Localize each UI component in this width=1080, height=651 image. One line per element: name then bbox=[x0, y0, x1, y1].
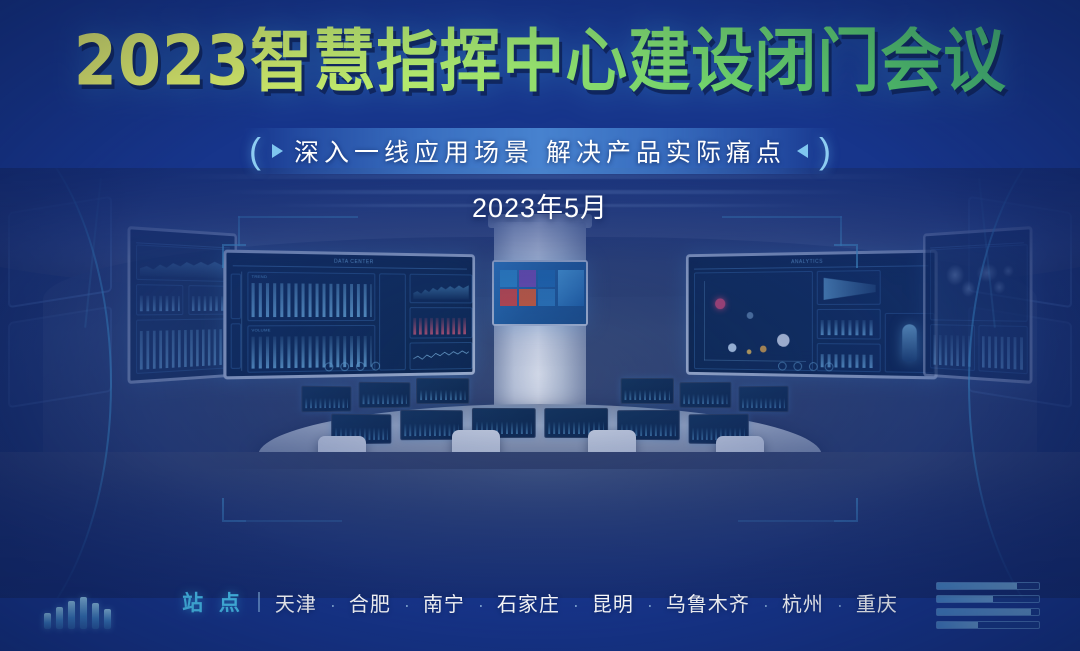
page-title: 2023智慧指挥中心建设闭门会议 bbox=[74, 26, 1007, 95]
human-figure-icon bbox=[902, 324, 917, 361]
operator-monitor bbox=[301, 386, 351, 413]
subtitle-block: ( 深入一线应用场景 解决产品实际痛点 ) bbox=[0, 128, 1080, 174]
equalizer-bar bbox=[68, 601, 75, 629]
operator-monitor bbox=[739, 386, 789, 413]
equalizer-bar bbox=[56, 607, 63, 629]
right-bracket-icon: ) bbox=[819, 133, 831, 169]
funnel-shape bbox=[824, 277, 876, 300]
progress-fill bbox=[937, 583, 1017, 589]
subtitle-text: 深入一线应用场景 解决产品实际痛点 bbox=[294, 133, 786, 169]
city-separator: · bbox=[478, 595, 484, 615]
funnel-panel bbox=[817, 270, 881, 305]
progress-fill bbox=[937, 609, 1031, 615]
video-wall-screen-left: DATA CENTER TREND VOLUME bbox=[223, 250, 475, 380]
bar-chart bbox=[140, 296, 180, 312]
hud-bracket-icon bbox=[834, 498, 858, 522]
control-knob-icon bbox=[793, 362, 802, 371]
progress-row bbox=[936, 621, 1040, 629]
desktop-tile bbox=[500, 270, 517, 287]
screen-panel bbox=[410, 307, 473, 338]
hud-bracket-icon bbox=[834, 244, 858, 268]
progress-fill bbox=[937, 622, 978, 628]
control-knob-icon bbox=[825, 362, 834, 371]
chart-axis bbox=[704, 360, 806, 362]
city-item: 天津 bbox=[275, 594, 317, 616]
stations-divider bbox=[258, 592, 260, 612]
equalizer-bar bbox=[104, 609, 111, 629]
control-knob-icon bbox=[325, 362, 334, 371]
hud-line bbox=[246, 520, 342, 522]
operator-monitor bbox=[679, 382, 731, 408]
bar-chart bbox=[933, 335, 971, 367]
left-triangle-icon bbox=[797, 144, 808, 158]
scatter-point bbox=[715, 298, 725, 309]
screen-panel bbox=[136, 318, 233, 374]
city-separator: · bbox=[573, 595, 579, 615]
city-separator: · bbox=[837, 595, 843, 615]
title-block: 2023智慧指挥中心建设闭门会议 bbox=[0, 30, 1080, 92]
bar-chart-red bbox=[413, 318, 468, 335]
chart-axis bbox=[704, 281, 705, 360]
screen-header: DATA CENTER bbox=[233, 257, 467, 270]
screen-panel bbox=[817, 309, 881, 340]
screen-panel bbox=[410, 274, 473, 304]
city-separator: · bbox=[404, 595, 410, 615]
screen-panel bbox=[136, 244, 233, 282]
left-bracket-icon: ( bbox=[249, 133, 261, 169]
city-item: 重庆 bbox=[856, 594, 898, 616]
control-knob-icon bbox=[778, 362, 787, 371]
city-separator: · bbox=[647, 595, 653, 615]
screen-title: DATA CENTER bbox=[334, 259, 374, 266]
screen-header: ANALYTICS bbox=[694, 257, 928, 270]
poster-root: DATA CENTER TREND VOLUME bbox=[0, 0, 1080, 651]
control-room-scene: DATA CENTER TREND VOLUME bbox=[0, 168, 1080, 598]
subtitle-bar: ( 深入一线应用场景 解决产品实际痛点 ) bbox=[243, 128, 837, 174]
equalizer-decoration bbox=[44, 595, 111, 629]
hud-bracket-icon bbox=[222, 498, 246, 522]
hud-line bbox=[738, 520, 834, 522]
event-date: 2023年5月 bbox=[0, 186, 1080, 225]
progress-row bbox=[936, 582, 1040, 590]
control-knob-icon bbox=[809, 362, 818, 371]
city-separator: · bbox=[763, 595, 769, 615]
kpi-panel bbox=[231, 274, 241, 320]
equalizer-bar bbox=[92, 603, 99, 629]
scatter-point bbox=[728, 343, 736, 352]
progress-decoration bbox=[936, 582, 1040, 629]
bar-chart bbox=[252, 336, 372, 369]
equalizer-bar bbox=[44, 613, 51, 629]
scatter-panel bbox=[694, 271, 813, 371]
screen-panel bbox=[410, 342, 473, 370]
city-item: 乌鲁木齐 bbox=[666, 594, 750, 616]
desktop-tile bbox=[500, 289, 517, 306]
desktop-tile bbox=[558, 270, 584, 306]
hud-bracket-icon bbox=[222, 244, 246, 268]
city-list: 天津·合肥·南宁·石家庄·昆明·乌鲁木齐·杭州·重庆 bbox=[275, 588, 898, 617]
stations-label: 站 点 bbox=[182, 587, 245, 617]
desktop-tile bbox=[519, 289, 536, 306]
scatter-point bbox=[747, 312, 754, 319]
chart-axis bbox=[241, 272, 242, 371]
panel-caption: TREND bbox=[252, 274, 268, 279]
bar-chart bbox=[252, 283, 372, 317]
scatter-point bbox=[777, 334, 789, 347]
right-triangle-icon bbox=[272, 144, 283, 158]
screen-panel: TREND bbox=[247, 272, 375, 322]
area-chart bbox=[413, 283, 468, 300]
kpi-panel bbox=[231, 323, 241, 369]
area-chart bbox=[140, 256, 230, 278]
desktop-tile bbox=[538, 270, 555, 287]
progress-row bbox=[936, 608, 1040, 616]
line-chart bbox=[413, 348, 468, 363]
operator-monitor bbox=[621, 378, 674, 404]
scatter-point bbox=[747, 349, 752, 354]
video-wall-screen-far-left bbox=[128, 226, 237, 384]
kpi-list-panel bbox=[379, 273, 406, 370]
desktop-tile bbox=[538, 289, 555, 306]
scatter-point bbox=[760, 346, 767, 353]
stations-bar: 站 点 天津·合肥·南宁·石家庄·昆明·乌鲁木齐·杭州·重庆 bbox=[0, 587, 1080, 617]
video-wall-screen-right: ANALYTICS bbox=[686, 250, 938, 380]
progress-fill bbox=[937, 596, 993, 602]
progress-row bbox=[936, 595, 1040, 603]
city-item: 杭州 bbox=[782, 594, 824, 616]
screen-panel bbox=[136, 284, 183, 315]
center-display-windows bbox=[492, 260, 588, 326]
operator-monitor bbox=[359, 382, 411, 408]
equalizer-bar bbox=[80, 597, 87, 629]
panel-caption: VOLUME bbox=[252, 327, 271, 332]
windows-desktop-icon bbox=[494, 262, 586, 324]
bar-chart bbox=[821, 320, 877, 335]
city-separator: · bbox=[330, 595, 336, 615]
operator-monitor bbox=[416, 378, 469, 404]
floor-reflection bbox=[194, 469, 885, 598]
city-item: 石家庄 bbox=[497, 594, 560, 616]
city-item: 南宁 bbox=[423, 594, 465, 616]
screen-title: ANALYTICS bbox=[791, 259, 823, 266]
city-item: 昆明 bbox=[592, 594, 634, 616]
desktop-tile bbox=[519, 270, 536, 287]
city-item: 合肥 bbox=[349, 594, 391, 616]
bar-chart bbox=[140, 329, 230, 370]
ceiling-light-strip bbox=[173, 174, 907, 179]
